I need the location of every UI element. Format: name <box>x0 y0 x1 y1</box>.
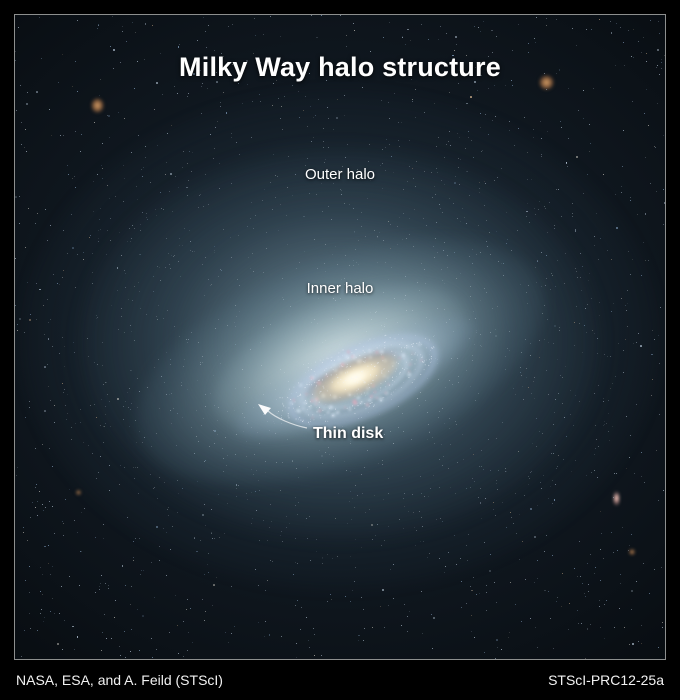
page-title: Milky Way halo structure <box>0 52 680 83</box>
credit-right: STScI-PRC12-25a <box>548 672 664 688</box>
sky-panel <box>15 15 665 659</box>
label-thin-disk: Thin disk <box>313 425 383 443</box>
label-inner-halo: Inner halo <box>0 280 680 297</box>
orange-galaxy-upper-left <box>91 98 104 113</box>
edge-on-galaxy-right <box>614 491 619 506</box>
orange-star-lower-left <box>76 490 81 495</box>
hubble-poster: Milky Way halo structure Outer halo Inne… <box>0 0 680 700</box>
image-frame <box>14 14 666 660</box>
credit-left: NASA, ESA, and A. Feild (STScI) <box>16 672 223 688</box>
label-outer-halo: Outer halo <box>0 166 680 183</box>
orange-star-lower-right <box>629 549 635 555</box>
